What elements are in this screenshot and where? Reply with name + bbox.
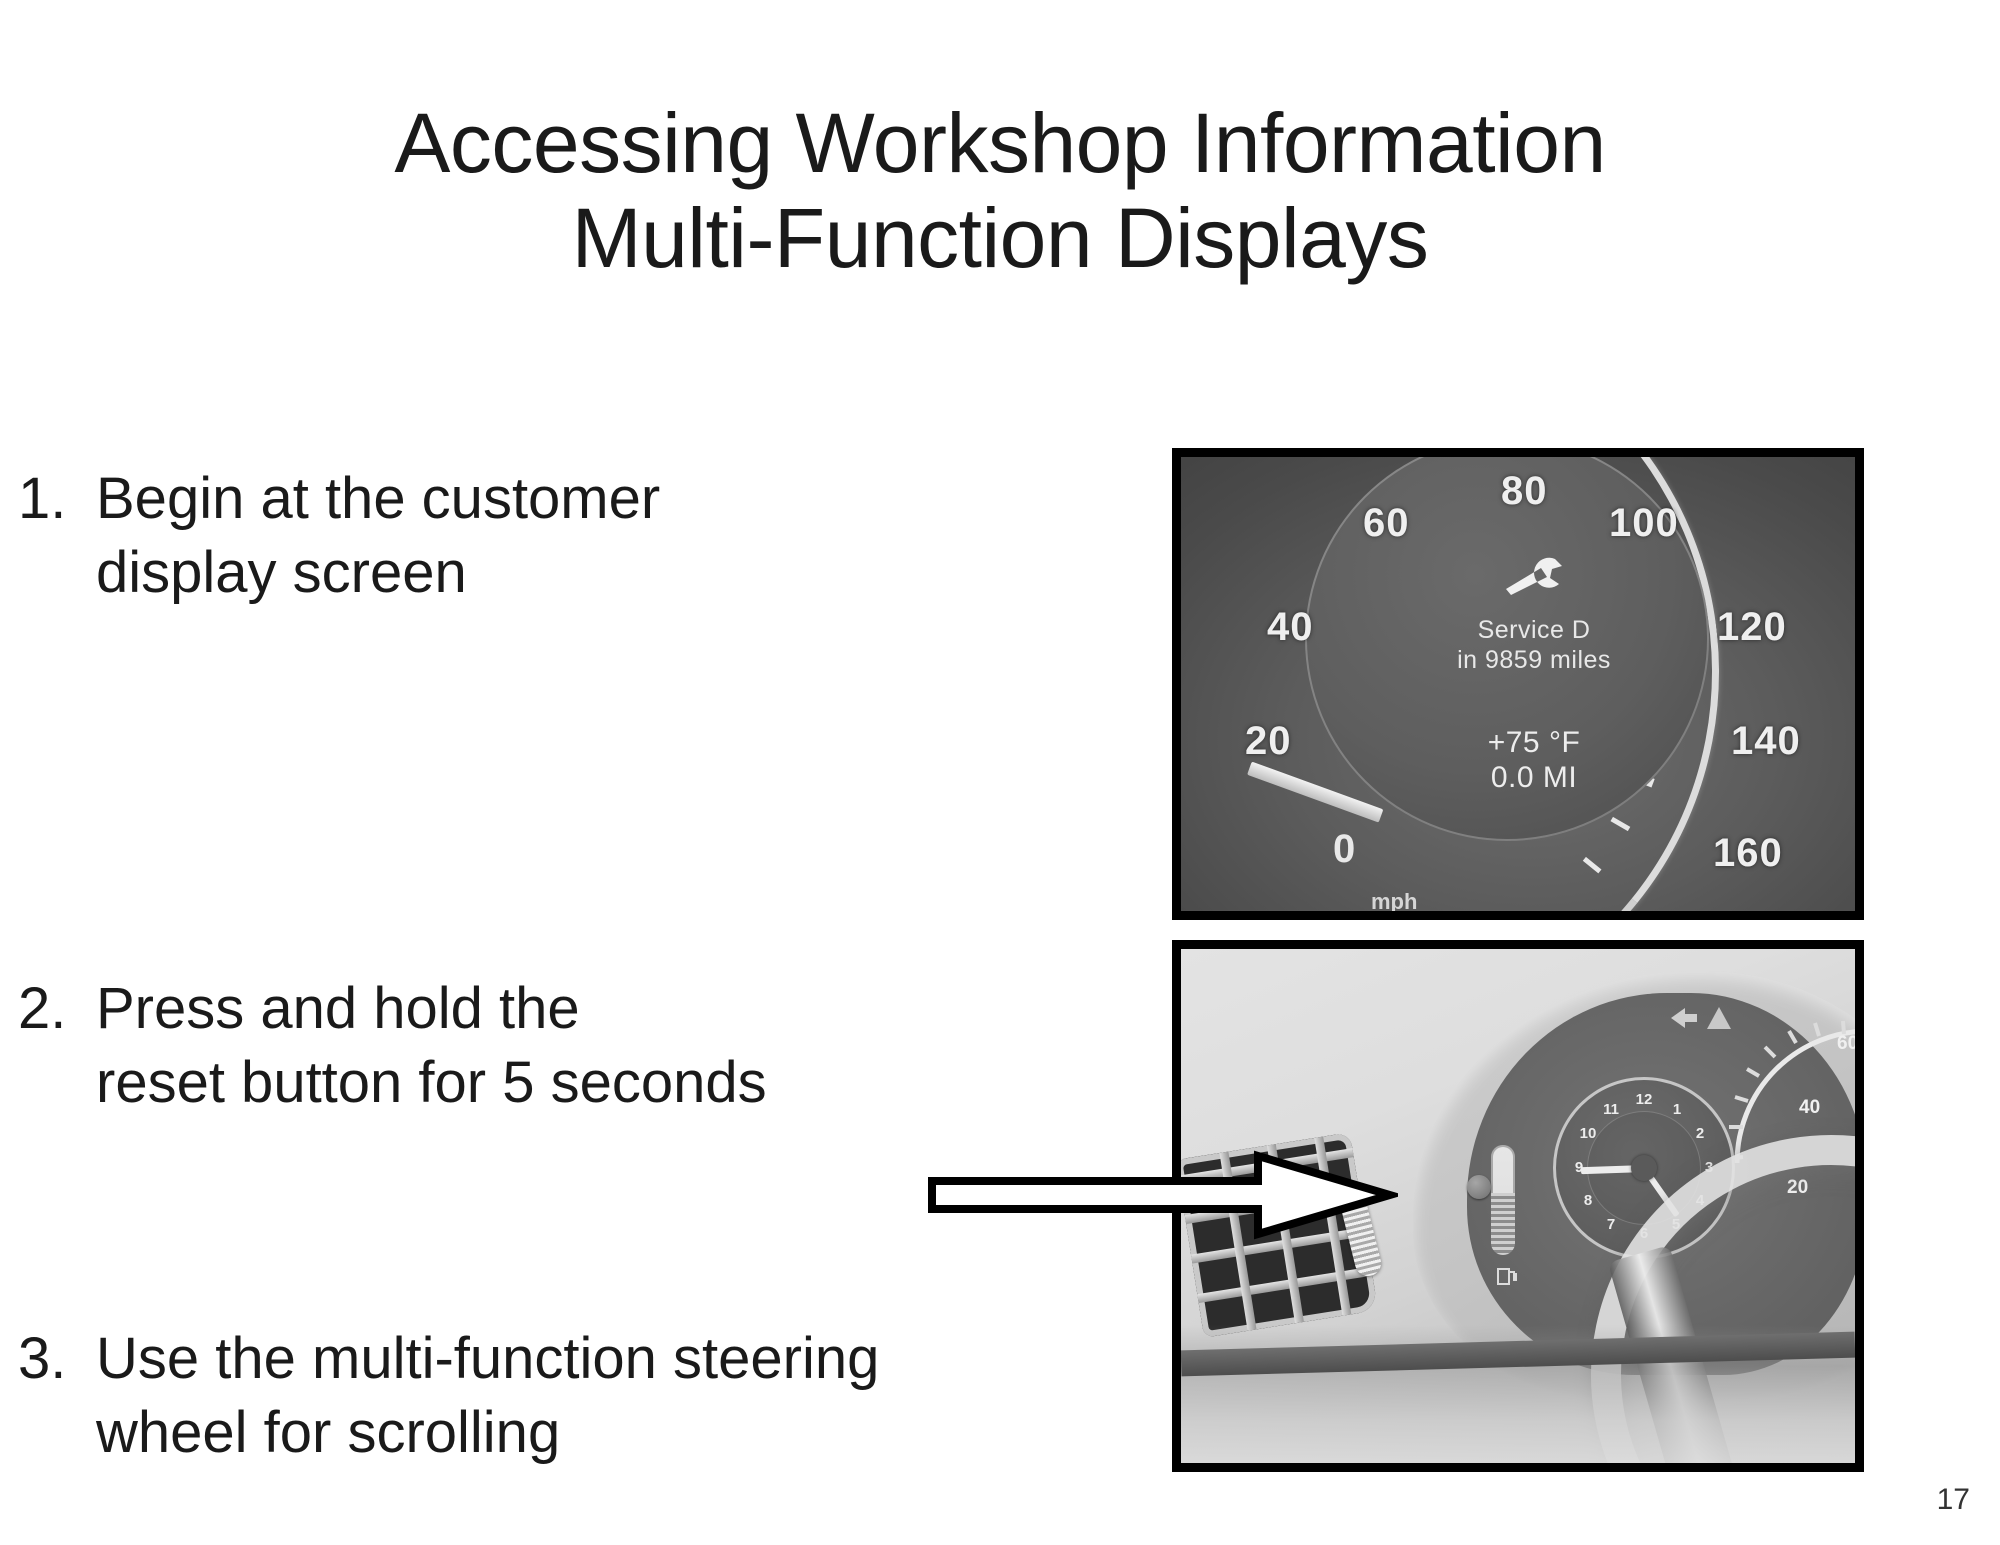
fuel-gauge-hatching — [1491, 1193, 1515, 1255]
step-3-line-2: wheel for scrolling — [96, 1396, 879, 1470]
gauge-number-60: 60 — [1363, 501, 1410, 546]
gauge-number-80: 80 — [1501, 469, 1548, 514]
gauge-number-160: 160 — [1713, 831, 1783, 876]
trip-distance-label: 0.0 MI — [1409, 760, 1659, 795]
trip-readout: +75 °F 0.0 MI — [1409, 725, 1659, 796]
instrument-cluster-photo-content: 20 40 60 80 100 120 140 160 0 mph Servic… — [1181, 457, 1855, 911]
gauge-number-140: 140 — [1731, 719, 1801, 764]
step-2-number: 2. — [18, 972, 96, 1046]
step-3-line-1: Use the multi-function steering — [96, 1322, 879, 1396]
speedometer-unit-label: mph — [1371, 889, 1417, 911]
step-1-text: Begin at the customer display screen — [96, 462, 660, 610]
gauge-number-40: 40 — [1267, 605, 1314, 650]
clock-number-2: 2 — [1689, 1125, 1711, 1142]
callout-arrow-to-reset-button — [928, 1150, 1398, 1240]
page-title: Accessing Workshop Information Multi-Fun… — [0, 96, 2000, 286]
list-item-step-1: 1. Begin at the customer display screen — [18, 462, 660, 610]
page-title-line-2: Multi-Function Displays — [0, 191, 2000, 286]
step-3-number: 3. — [18, 1322, 96, 1396]
speedometer-zero-label: 0 — [1333, 827, 1355, 872]
clock-number-10: 10 — [1577, 1125, 1599, 1142]
page-title-line-1: Accessing Workshop Information — [0, 96, 2000, 191]
step-2-text: Press and hold the reset button for 5 se… — [96, 972, 767, 1120]
dash-speedo-number-40: 40 — [1799, 1097, 1820, 1119]
page-number: 17 — [1937, 1483, 1970, 1517]
step-1-number: 1. — [18, 462, 96, 536]
service-distance-label: in 9859 miles — [1409, 645, 1659, 675]
service-interval-label: Service D — [1409, 615, 1659, 645]
vent-slat — [1187, 1265, 1378, 1305]
reset-button[interactable] — [1467, 1175, 1491, 1199]
dash-speedo-number-60: 60 — [1837, 1033, 1855, 1055]
step-1-line-2: display screen — [96, 536, 660, 610]
outside-temperature-label: +75 °F — [1409, 725, 1659, 760]
gauge-number-120: 120 — [1717, 605, 1787, 650]
clock-number-1: 1 — [1666, 1101, 1688, 1118]
step-1-line-1: Begin at the customer — [96, 462, 660, 536]
clock-number-11: 11 — [1600, 1101, 1622, 1118]
clock-number-12: 12 — [1633, 1091, 1655, 1108]
wrench-icon — [1503, 555, 1565, 601]
step-2-line-1: Press and hold the — [96, 972, 767, 1046]
gauge-number-100: 100 — [1609, 501, 1679, 546]
fuel-gauge — [1491, 1145, 1515, 1255]
service-readout: Service D in 9859 miles — [1409, 615, 1659, 675]
clock-number-7: 7 — [1600, 1216, 1622, 1233]
warning-triangle-icon — [1707, 1007, 1731, 1029]
fuel-pump-icon — [1497, 1267, 1519, 1285]
instrument-cluster-photo: 20 40 60 80 100 120 140 160 0 mph Servic… — [1172, 448, 1864, 920]
list-item-step-2: 2. Press and hold the reset button for 5… — [18, 972, 767, 1120]
step-3-text: Use the multi-function steering wheel fo… — [96, 1322, 879, 1470]
left-arrow-icon — [1671, 1008, 1697, 1028]
gauge-number-20: 20 — [1245, 719, 1292, 764]
indicator-icons — [1649, 1003, 1741, 1033]
step-2-line-2: reset button for 5 seconds — [96, 1046, 767, 1120]
list-item-step-3: 3. Use the multi-function steering wheel… — [18, 1322, 879, 1470]
clock-number-8: 8 — [1577, 1192, 1599, 1209]
clock-hub — [1631, 1155, 1657, 1181]
